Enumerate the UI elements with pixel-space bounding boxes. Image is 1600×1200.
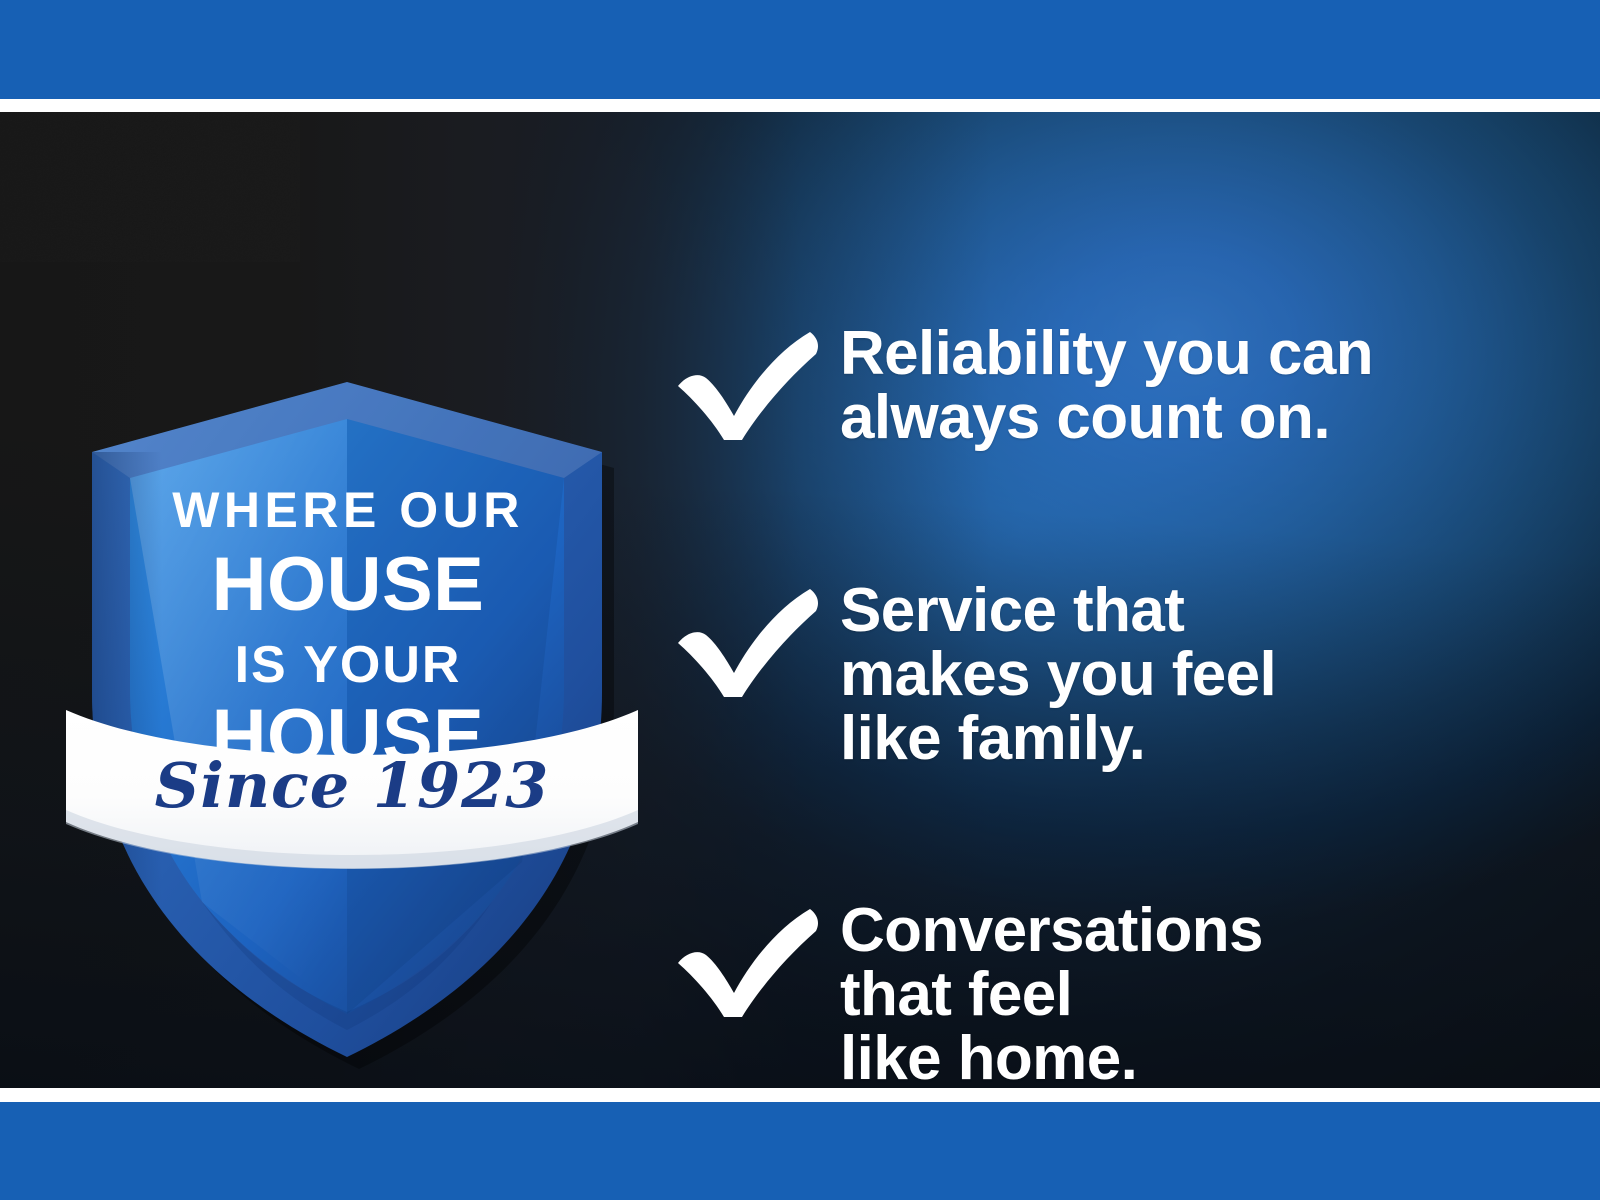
shield-line-1: WHERE OUR [172,482,524,538]
checkmark-icon [672,899,840,1020]
benefits-list: Reliability you can always count on. Ser… [672,224,1572,1088]
main-panel: WHERE OUR HOUSE IS YOUR HOUSE Since 1923 [0,112,1600,1088]
poster-canvas: WHERE OUR HOUSE IS YOUR HOUSE Since 1923 [0,0,1600,1200]
shield-emblem: WHERE OUR HOUSE IS YOUR HOUSE Since 1923 [52,262,652,1088]
benefit-item: Conversations that feel like home. [672,899,1263,1088]
benefit-text: Conversations that feel like home. [840,899,1263,1088]
ribbon-script-text: Since 1923 [155,749,550,822]
shield-line-3: IS YOUR [235,636,462,694]
bottom-brand-bar [0,1102,1600,1200]
benefit-text: Service that makes you feel like family. [840,579,1276,771]
top-brand-bar [0,0,1600,99]
checkmark-icon [672,322,840,443]
benefit-item: Reliability you can always count on. [672,322,1373,450]
benefit-item: Service that makes you feel like family. [672,579,1276,771]
checkmark-icon [672,579,840,700]
shield-line-2: HOUSE [212,542,485,627]
benefit-text: Reliability you can always count on. [840,322,1373,450]
